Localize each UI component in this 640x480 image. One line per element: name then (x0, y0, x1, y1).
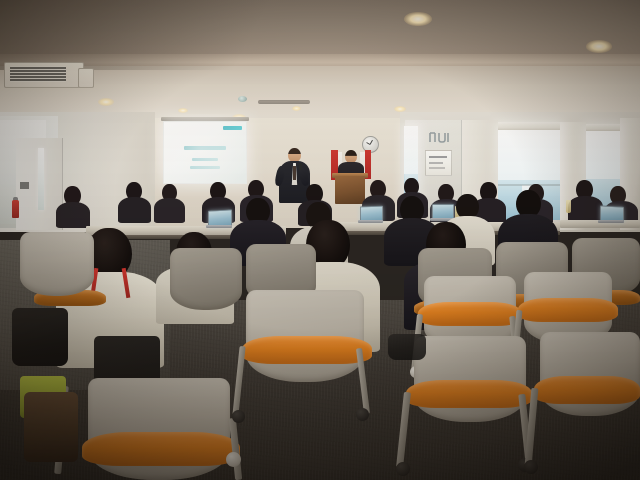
recessed-downlight-icon (404, 12, 432, 26)
chair-caster (356, 408, 369, 421)
wall-poster (425, 150, 452, 176)
recessed-downlight-icon (98, 98, 114, 106)
audience-body (568, 196, 603, 223)
roller-blind[interactable] (586, 124, 620, 131)
slide-text-line (192, 158, 218, 161)
chair-seat[interactable] (82, 432, 240, 466)
chair-caster (396, 462, 410, 476)
chair-back[interactable] (414, 336, 526, 422)
ceiling-shadow-gradient (0, 0, 640, 70)
chair-caster (232, 410, 245, 423)
laptop-base (598, 220, 624, 223)
ceiling-speaker-icon (238, 96, 247, 102)
window-sky (498, 124, 560, 180)
audience-body (154, 198, 185, 223)
chair-back[interactable] (20, 232, 94, 296)
audience-body (118, 197, 151, 223)
audience-head (516, 190, 541, 217)
handheld-microphone-icon (299, 163, 302, 170)
water-bottle (566, 200, 571, 213)
company-logo-icon (428, 131, 452, 144)
chair-seat[interactable] (534, 376, 640, 404)
brown-shoulder-bag (24, 392, 78, 462)
chair-caster (226, 452, 241, 467)
recessed-downlight-icon (586, 40, 612, 53)
chair-seat[interactable] (242, 336, 372, 364)
window-sky (586, 126, 620, 179)
door-vision-panel (38, 148, 44, 210)
roller-blind[interactable] (498, 122, 560, 130)
ceiling-vent-icon (258, 100, 310, 104)
chair-caster (524, 460, 538, 474)
presenter-head (288, 148, 301, 162)
laptop-base (206, 225, 232, 228)
window-mullion (498, 184, 560, 186)
audience-body (56, 202, 90, 228)
presenter-tie (293, 166, 296, 180)
air-conditioning-unit (78, 68, 94, 88)
chair-seat[interactable] (518, 298, 618, 322)
chair-seat[interactable] (418, 302, 522, 326)
black-backpack (12, 308, 68, 366)
chair-back[interactable] (170, 248, 242, 310)
poster-text-line (429, 162, 443, 164)
floor-bag (388, 334, 426, 360)
chair-seat[interactable] (406, 380, 532, 408)
air-vent-grille-icon (10, 66, 66, 82)
door-sign-plate (20, 182, 29, 189)
fire-extinguisher-icon (12, 200, 19, 218)
poster-text-line (429, 156, 447, 158)
lectern (335, 176, 365, 204)
recessed-downlight-icon (178, 108, 188, 113)
poster-text-line (429, 167, 445, 169)
recessed-downlight-icon (292, 106, 301, 111)
slide-logo-badge (223, 126, 242, 130)
slide-text-line (190, 166, 220, 169)
clock-minute-hand (370, 140, 373, 145)
laptop-base (358, 220, 383, 223)
conference-room-photo: Conference room seminar presentation (0, 0, 640, 480)
projection-screen (163, 121, 247, 184)
projection-screen-surface (164, 122, 246, 183)
slide-text-line (184, 146, 226, 150)
